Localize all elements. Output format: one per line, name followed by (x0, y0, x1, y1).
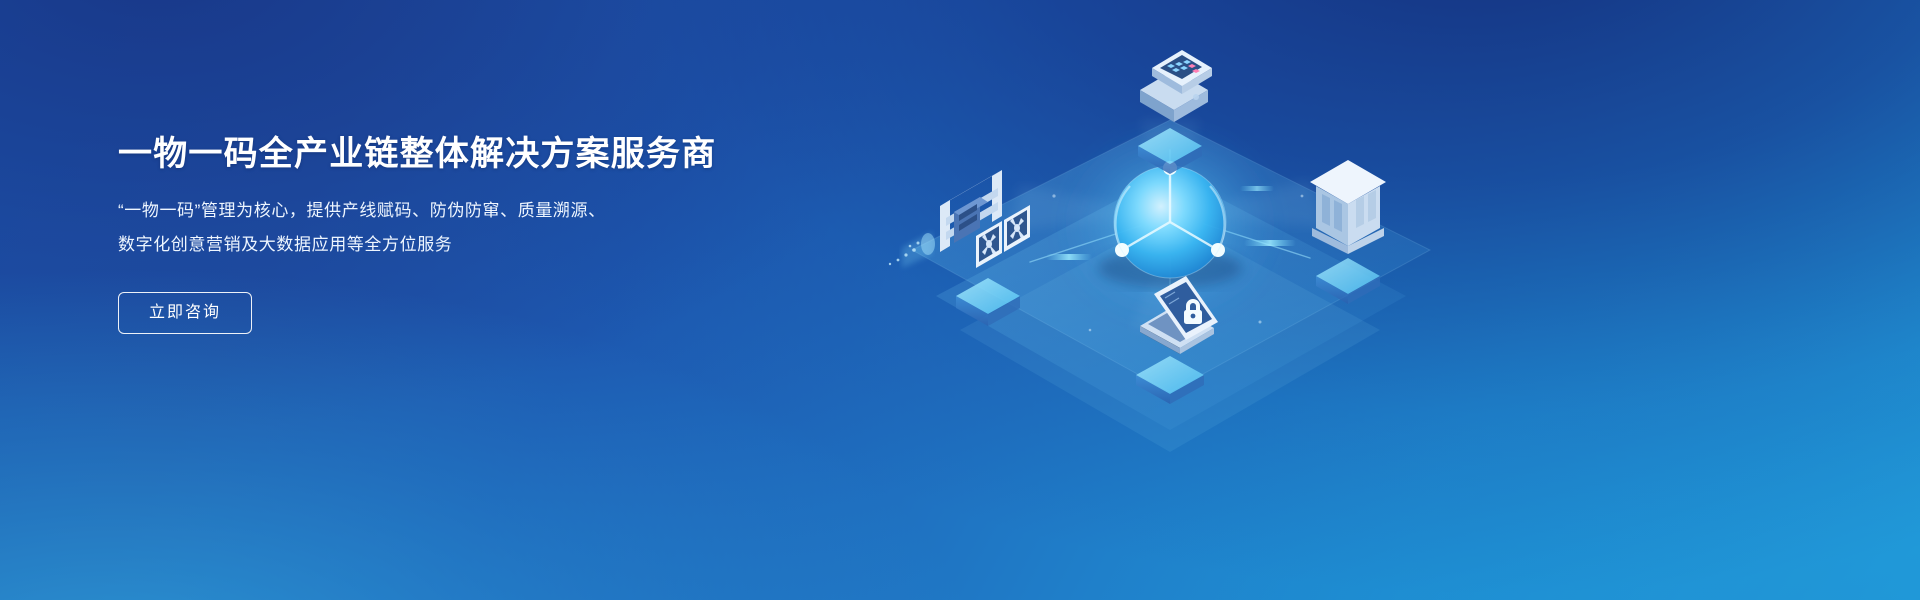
hero-subtitle-line-2: 数字化创意营销及大数据应用等全方位服务 (118, 228, 678, 262)
consult-now-button[interactable]: 立即咨询 (118, 292, 252, 334)
hero-copy-block: 一物一码全产业链整体解决方案服务商 “一物一码”管理为核心，提供产线赋码、防伪防… (118, 132, 878, 334)
hero-subtitle: “一物一码”管理为核心，提供产线赋码、防伪防窜、质量溯源、 数字化创意营销及大数… (118, 194, 678, 262)
pos-terminal-icon (1138, 50, 1212, 174)
isometric-network-illustration (840, 0, 1480, 600)
page-title: 一物一码全产业链整体解决方案服务商 (118, 132, 878, 176)
hero-banner: 一物一码全产业链整体解决方案服务商 “一物一码”管理为核心，提供产线赋码、防伪防… (0, 0, 1920, 600)
hero-subtitle-line-1: “一物一码”管理为核心，提供产线赋码、防伪防窜、质量溯源、 (118, 194, 678, 228)
data-stream (889, 232, 935, 268)
